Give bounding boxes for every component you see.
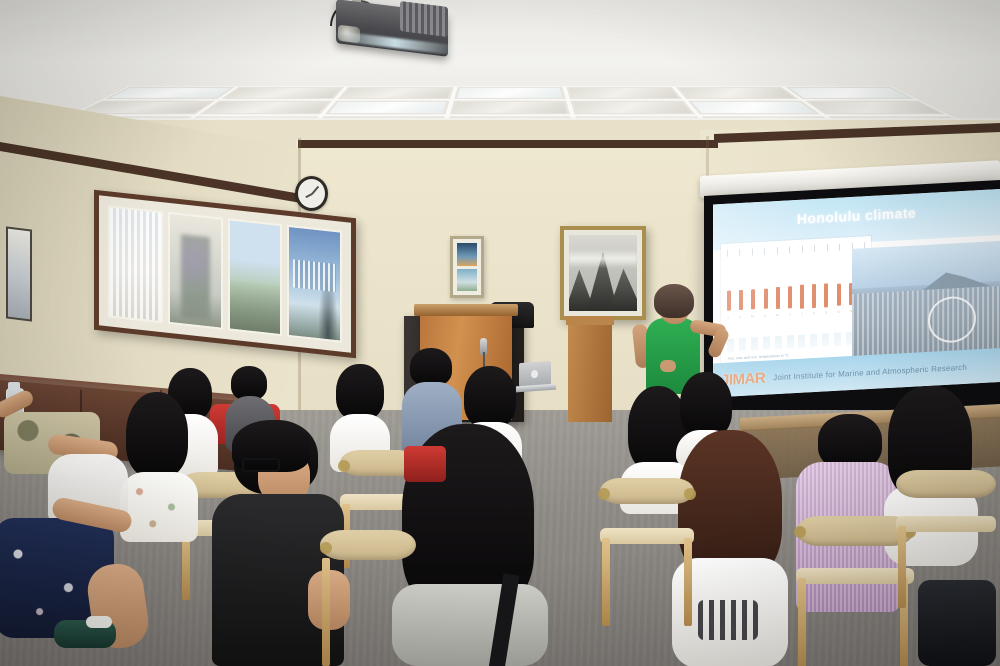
chair-bracket — [598, 488, 610, 500]
presenter-left-hand — [660, 360, 676, 372]
chart-bar — [800, 285, 804, 309]
chair-leg — [684, 538, 692, 626]
chart-tick — [727, 249, 728, 256]
ceiling-tile — [335, 86, 456, 99]
chart-month-label: A — [813, 311, 815, 319]
slide-canvas: Honolulu climate JFMAMJJASOND Ave. max a… — [713, 189, 1000, 398]
bottle-cap — [8, 382, 20, 390]
climate-chart: JFMAMJJASOND Ave. max and min. temperatu… — [721, 236, 871, 372]
art-panel-floral — [168, 212, 223, 330]
chair-seat — [896, 516, 996, 532]
chart-bar — [727, 291, 731, 311]
chart-bar — [824, 284, 828, 308]
chair-leg — [602, 538, 610, 626]
chart-bar — [739, 290, 743, 310]
crown-molding-center — [298, 140, 718, 148]
small-two-photo-frame — [450, 236, 484, 298]
ceiling-tile — [565, 86, 686, 99]
chart-month-label: J — [727, 316, 729, 324]
chart-table-cell — [763, 336, 770, 349]
chart-month-label: J — [801, 312, 803, 320]
chart-bar — [812, 284, 816, 308]
attendee-hair — [336, 364, 384, 420]
ceiling-tile — [802, 100, 950, 115]
chart-tick — [777, 247, 778, 254]
chart-tick — [764, 247, 765, 254]
chart-tick — [739, 249, 740, 256]
podium-side-panel — [568, 322, 612, 422]
ceiling-tile — [568, 100, 698, 115]
chair-leg — [798, 578, 806, 666]
eyeglasses-icon — [242, 458, 280, 472]
art-panel-harbor — [287, 225, 342, 343]
chart-bar — [776, 287, 780, 309]
ceiling-tile — [452, 86, 569, 99]
chart-tick — [752, 248, 753, 255]
chair-bracket — [684, 488, 696, 500]
chart-table-cell — [751, 337, 758, 350]
presenter-hair — [654, 284, 694, 318]
lecture-room-photo: Honolulu climate JFMAMJJASOND Ave. max a… — [0, 0, 1000, 666]
ceiling-tile — [674, 86, 802, 99]
photo-top — [457, 243, 477, 266]
chart-table-cell — [822, 333, 829, 346]
chart-table-cell — [739, 338, 746, 351]
wall-clock-icon — [295, 176, 328, 211]
chart-table-cell — [787, 335, 794, 348]
art-panel-curtain — [108, 205, 163, 323]
ceiling-tile — [101, 86, 237, 99]
chair-back — [600, 478, 694, 504]
honolulu-aerial-photo — [852, 241, 1000, 367]
artwork-mat — [99, 195, 351, 352]
painting-canvas — [569, 235, 637, 311]
chart-tick-row — [727, 241, 865, 256]
large-four-panel-artwork — [94, 190, 356, 358]
chart-table-cell — [775, 336, 782, 349]
attendee-hair — [464, 366, 516, 428]
painting-mist — [569, 249, 637, 269]
red-snack-packet — [404, 446, 446, 482]
chair — [600, 478, 694, 628]
chair-seat — [600, 528, 694, 544]
chart-bar — [788, 286, 792, 309]
chair-leg — [322, 558, 330, 666]
podium-top — [414, 304, 518, 316]
ceiling-tile — [447, 100, 573, 115]
attendee-hair — [126, 392, 188, 478]
chart-secondary-table — [727, 318, 865, 351]
attendee-hair — [410, 348, 452, 386]
chair-bracket — [320, 542, 332, 554]
chair-back — [896, 470, 996, 498]
chair-back — [320, 530, 416, 560]
attendee-hair — [231, 366, 267, 400]
ceiling-tile — [196, 100, 335, 115]
shoe-stripe — [86, 616, 112, 628]
jimar-full-name: Joint Institute for Marine and Atmospher… — [773, 362, 967, 381]
chart-month-label: F — [739, 315, 741, 323]
chart-bar — [751, 289, 755, 310]
ceiling-tile — [218, 86, 346, 99]
chart-bar — [837, 283, 841, 306]
chart-tick — [789, 246, 790, 253]
ceiling-tile — [783, 86, 919, 99]
chart-table-cell — [834, 333, 841, 346]
chart-bar — [764, 288, 768, 309]
projector-vent-icon — [400, 1, 448, 37]
chart-table-cell — [810, 334, 817, 347]
clock-minute-hand — [311, 185, 319, 194]
backpack — [918, 580, 996, 666]
chart-table-cell — [727, 338, 734, 351]
photo-bottom — [457, 269, 477, 292]
ceiling-tile — [685, 100, 824, 115]
projection-screen: Honolulu climate JFMAMJJASOND Ave. max a… — [704, 180, 1000, 420]
chart-month-label: J — [789, 312, 791, 320]
painting-mat — [564, 230, 642, 316]
podium-side-top — [566, 316, 614, 325]
tshirt-graphic — [698, 600, 758, 640]
chart-table-cell — [798, 335, 805, 348]
chart-tick — [839, 243, 840, 250]
small-left-framed-print — [6, 226, 32, 321]
chart-tick — [802, 245, 803, 252]
chart-tick — [814, 244, 815, 251]
chair-bracket — [794, 526, 806, 538]
attendee-hair — [680, 372, 732, 438]
chart-month-label: A — [764, 314, 766, 322]
chart-month-label: M — [751, 314, 754, 322]
chart-month-label: O — [837, 310, 839, 318]
chart-tick — [827, 244, 828, 251]
ceiling-tile — [322, 100, 452, 115]
chart-month-label: M — [776, 313, 779, 321]
art-panel-seascape — [228, 218, 283, 336]
chart-month-label: S — [825, 310, 827, 318]
chair-leg — [898, 526, 906, 608]
chair — [320, 530, 416, 666]
